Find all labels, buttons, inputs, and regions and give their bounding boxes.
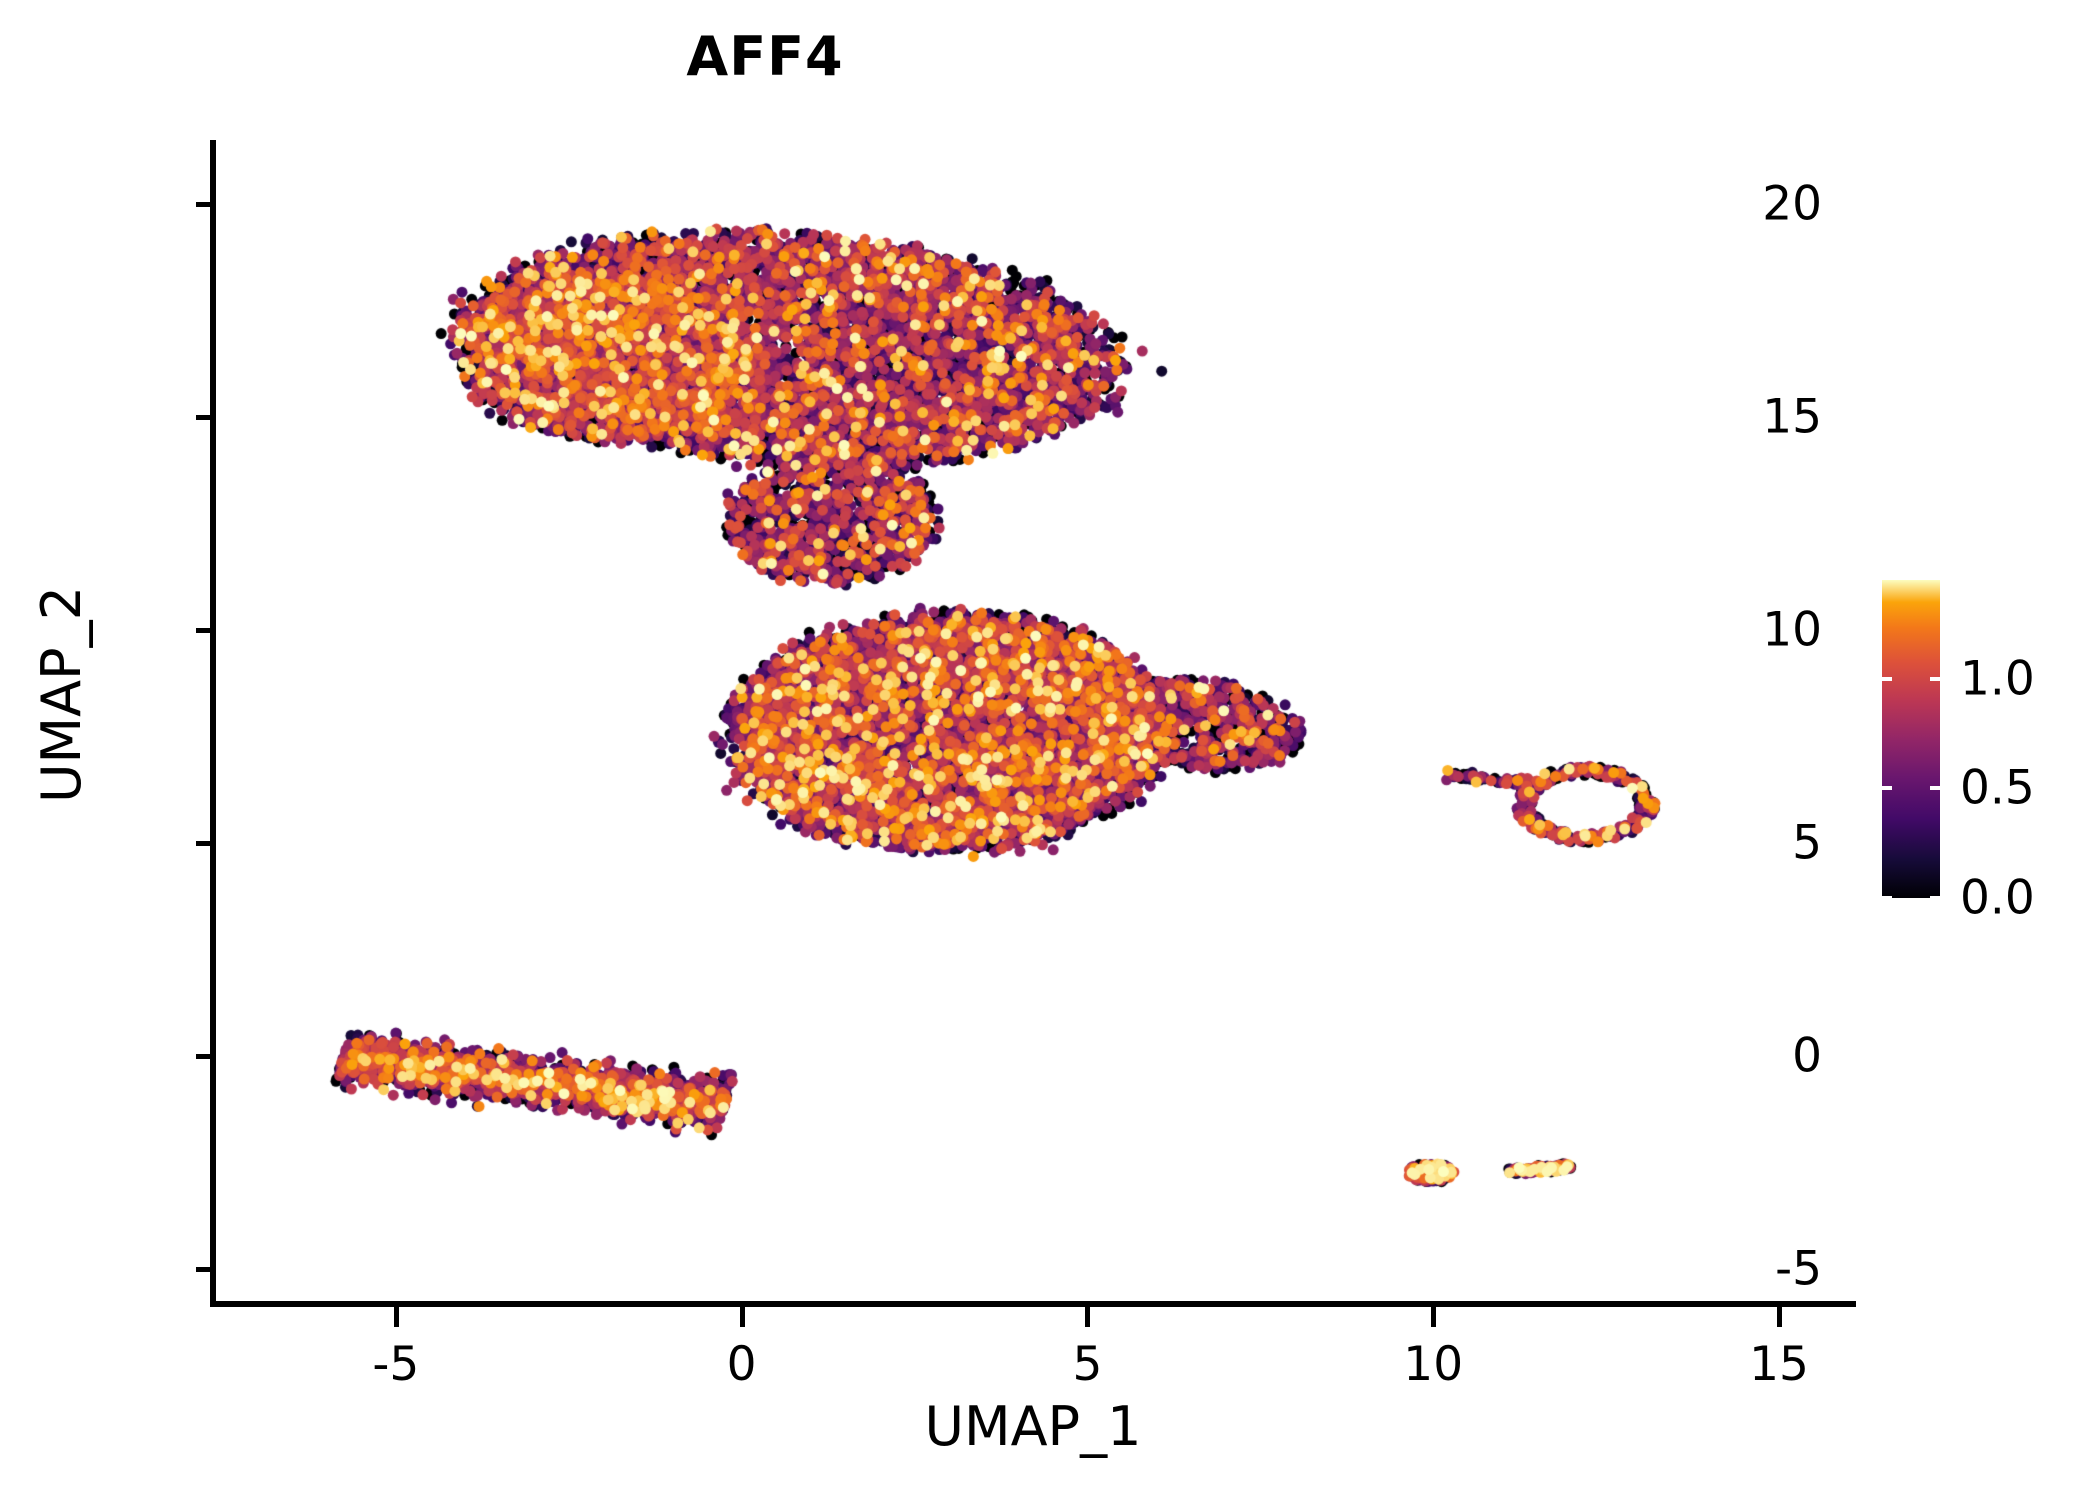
colorbar-tick-mark: [1882, 677, 1892, 681]
x-tick-mark: [1431, 1307, 1436, 1327]
x-tick-label: -5: [372, 1337, 419, 1392]
page-title: AFF4: [0, 22, 1815, 92]
y-tick-mark: [196, 1267, 216, 1272]
x-tick-mark: [740, 1307, 745, 1327]
x-tick-label: 0: [727, 1337, 757, 1392]
x-axis-label: UMAP_1: [210, 1395, 1856, 1458]
plot-axes: -505101520 -5051015: [210, 140, 1856, 1307]
x-tick-label: 5: [1072, 1337, 1102, 1392]
colorbar-tick-mark: [1882, 786, 1892, 790]
y-tick-mark: [196, 628, 216, 633]
colorbar: 0.00.51.0: [1882, 580, 1940, 898]
x-tick-mark: [394, 1307, 399, 1327]
y-tick-mark: [196, 415, 216, 420]
colorbar-tick-label: 0.5: [1960, 761, 2035, 816]
colorbar-gradient: [1882, 580, 1940, 898]
x-tick-label: 10: [1403, 1337, 1463, 1392]
x-tick-mark: [1085, 1307, 1090, 1327]
colorbar-tick-mark: [1930, 786, 1940, 790]
y-tick-mark: [196, 202, 216, 207]
colorbar-tick-label: 1.0: [1960, 651, 2035, 706]
x-tick-mark: [1777, 1307, 1782, 1327]
colorbar-tick-mark: [1930, 677, 1940, 681]
y-tick-mark: [196, 841, 216, 846]
x-tick-label: 15: [1749, 1337, 1809, 1392]
umap-feature-plot: AFF4 -505101520 -5051015 UMAP_1 UMAP_2 0…: [0, 0, 2100, 1500]
y-tick-mark: [196, 1054, 216, 1059]
colorbar-tick-mark: [1882, 896, 1892, 900]
colorbar-tick-mark: [1930, 896, 1940, 900]
colorbar-tick-label: 0.0: [1960, 871, 2035, 926]
y-axis-label: UMAP_2: [30, 111, 93, 1278]
scatter-plot-canvas: [216, 140, 1862, 1307]
